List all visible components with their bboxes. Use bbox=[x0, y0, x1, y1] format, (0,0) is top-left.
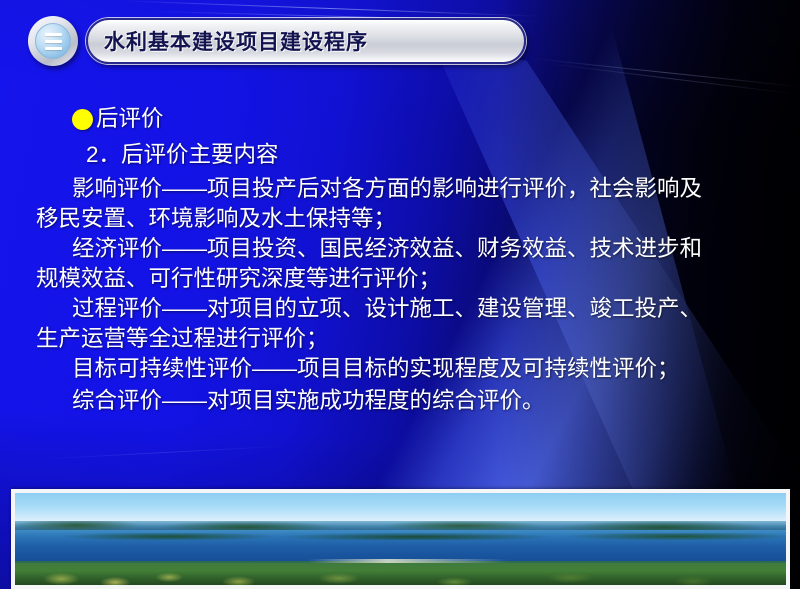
hamburger-bars-icon bbox=[35, 23, 71, 59]
paragraph-line: 移民安置、环境影响及水土保持等； bbox=[36, 204, 702, 234]
photo-frame bbox=[11, 489, 790, 589]
paragraph-comprehensive-evaluation: 综合评价——对项目实施成功程度的综合评价。 bbox=[36, 386, 545, 416]
hamburger-bar-3 bbox=[45, 47, 62, 50]
title-badge bbox=[28, 16, 78, 66]
section-subheading: 2．后评价主要内容 bbox=[86, 140, 279, 170]
photo-mid-islands bbox=[15, 533, 786, 539]
photo-sky bbox=[15, 493, 786, 524]
slide-title-bar: 水利基本建设项目建设程序 bbox=[28, 18, 526, 64]
page-title: 水利基本建设项目建设程序 bbox=[104, 26, 368, 56]
paragraph-line: 过程评价——对项目的立项、设计施工、建设管理、竣工投产、 bbox=[36, 294, 702, 324]
photo-foreground-vegetation bbox=[15, 563, 786, 585]
hamburger-bar-2 bbox=[45, 40, 62, 43]
section-heading: 后评价 bbox=[72, 104, 164, 134]
lake-and-hills-landscape-photo bbox=[15, 493, 786, 585]
paragraph-sustainability-evaluation: 目标可持续性评价——项目目标的实现程度及可持续性评价； bbox=[36, 354, 680, 384]
title-pill: 水利基本建设项目建设程序 bbox=[86, 18, 526, 64]
paragraph-line: 生产运营等全过程进行评价； bbox=[36, 324, 702, 354]
section-subheading-label: 2．后评价主要内容 bbox=[86, 142, 279, 167]
paragraph-impact-evaluation: 影响评价——项目投产后对各方面的影响进行评价，社会影响及 移民安置、环境影响及水… bbox=[36, 174, 702, 234]
paragraph-process-evaluation: 过程评价——对项目的立项、设计施工、建设管理、竣工投产、 生产运营等全过程进行评… bbox=[36, 294, 702, 354]
paragraph-line: 综合评价——对项目实施成功程度的综合评价。 bbox=[36, 386, 545, 416]
hamburger-bar-1 bbox=[45, 33, 62, 36]
paragraph-line: 规模效益、可行性研究深度等进行评价； bbox=[36, 264, 702, 294]
paragraph-line: 影响评价——项目投产后对各方面的影响进行评价，社会影响及 bbox=[36, 174, 702, 204]
paragraph-line: 经济评价——项目投资、国民经济效益、财务效益、技术进步和 bbox=[36, 234, 702, 264]
slide-canvas: 水利基本建设项目建设程序 后评价 2．后评价主要内容 影响评价——项目投产后对各… bbox=[0, 0, 800, 589]
paragraph-line: 目标可持续性评价——项目目标的实现程度及可持续性评价； bbox=[36, 354, 680, 384]
section-heading-label: 后评价 bbox=[96, 104, 164, 134]
paragraph-economic-evaluation: 经济评价——项目投资、国民经济效益、财务效益、技术进步和 规模效益、可行性研究深… bbox=[36, 234, 702, 294]
yellow-dot-bullet-icon bbox=[72, 109, 93, 130]
